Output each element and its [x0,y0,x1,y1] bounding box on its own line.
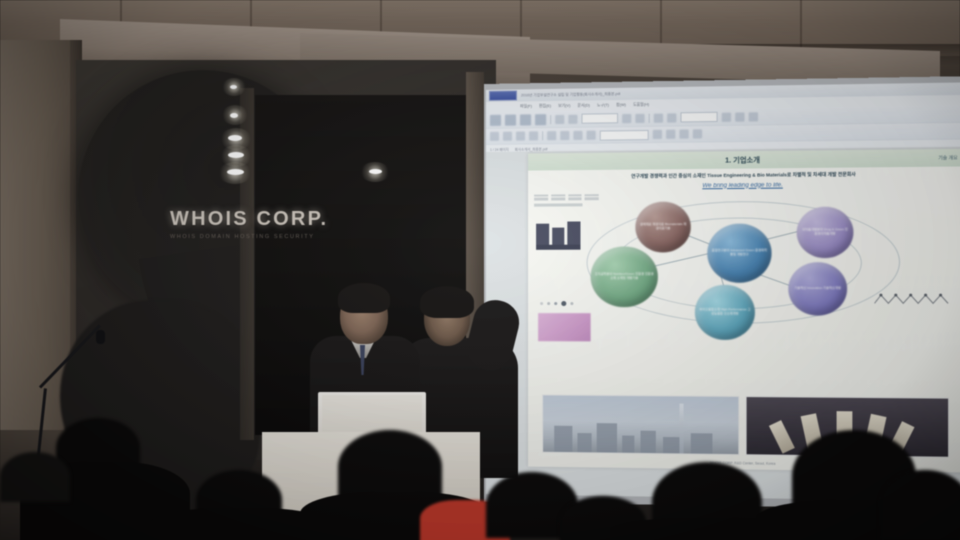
menu-item-document[interactable]: 문서(D) [577,103,589,108]
text-tool-icon[interactable] [560,131,569,140]
presenter-1-hair [338,283,390,313]
spotlight-2 [230,113,238,118]
sign-icon[interactable] [679,129,688,138]
app-icon [489,90,517,100]
wall-sign-title: WHOIS CORP. [170,208,328,231]
bubble-teal: 바이오융합소재 High Performance 고성능융합 신소재개발 [695,284,755,339]
bar-chart-thumbnail [536,218,580,244]
menu-item-view[interactable]: 보기(V) [558,103,570,108]
app-title: 2016년 기업부설연구소 설립 및 기업활동(회사소개서)_최종본.pdf [521,91,621,98]
menu-item-file[interactable]: 파일(F) [520,104,532,109]
zoom-in-icon[interactable] [635,113,644,122]
redo-icon[interactable] [568,114,577,123]
menu-item-help[interactable]: 도움말(H) [633,102,649,107]
spotlight-1 [230,85,237,89]
conference-room-photo: WHOIS CORP. WHOIS DOMAIN HOSTING SECURIT… [0,0,960,540]
note-icon[interactable] [587,131,596,140]
micrograph-thumbnail [538,313,591,341]
menu-item-edit[interactable]: 편집(E) [539,104,551,109]
zoom-out-icon[interactable] [622,113,631,122]
toolbar-separator [550,115,551,124]
bubble-network-diagram: 중점연구분야 Advanced Green 환경화학물질 개발연구 생체재료 재… [528,189,960,347]
spotlight-5 [227,169,244,175]
room-background: WHOIS CORP. WHOIS DOMAIN HOSTING SECURIT… [0,0,960,540]
wall-sign: WHOIS CORP. WHOIS DOMAIN HOSTING SECURIT… [170,208,328,240]
bar-chart-baseline [536,244,580,249]
mail-icon[interactable] [535,114,546,125]
bubble-center: 중점연구분야 Advanced Green 환경화학물질 개발연구 [707,223,771,282]
rotate-right-icon[interactable] [735,112,744,121]
attach-icon[interactable] [666,130,675,139]
slide-header-right-label: 기술 개요 [938,155,957,161]
spotlight-4 [228,152,244,158]
select-tool-icon[interactable] [749,112,758,121]
undo-icon[interactable] [555,114,564,123]
menu-item-tools[interactable]: 도구(T) [597,103,609,108]
open-icon[interactable] [490,114,501,125]
presenter-2-hair [420,286,474,318]
save-icon[interactable] [505,114,516,125]
rotate-left-icon[interactable] [722,112,731,121]
wall-sign-subtitle: WHOIS DOMAIN HOSTING SECURITY [170,234,328,240]
fit-width-icon[interactable] [667,113,676,122]
process-dots [540,301,573,306]
last-page-icon[interactable] [529,131,538,140]
stamp-icon[interactable] [653,130,662,139]
toolbar-separator-3 [542,131,543,140]
first-page-icon[interactable] [490,132,499,141]
search-input[interactable] [600,129,649,140]
print-icon[interactable] [520,114,531,125]
data-table-thumbnail [534,194,599,207]
audience-head-2 [0,452,70,502]
zoom-combo[interactable] [581,113,618,124]
photo-city-skyline [542,394,739,455]
presentation-slide: 1. 기업소개 기술 개요 연구개발 경쟁력과 인간 중심의 소재인 Tissu… [528,149,960,473]
toolbar-separator-2 [649,113,650,122]
search-icon[interactable] [693,129,702,138]
audience-head-9 [880,470,960,540]
bubble-purple: 의약품개발분야 Drug & Green 친환경의약품개발 [797,206,854,258]
highlight-icon[interactable] [573,131,582,140]
page-combo[interactable] [680,112,717,123]
next-page-icon[interactable] [516,131,525,140]
spotlight-3 [228,135,242,141]
bookmark-icon[interactable] [547,131,556,140]
microphone-head [96,330,105,344]
slide-title: 1. 기업소개 [725,155,760,166]
chemical-structure-diagram [872,288,955,311]
bubble-green: 조직공학분야 Nutrition/Green 친환경 친환경소재 소재및 개발기… [591,246,658,307]
podium-top [322,395,422,435]
menu-item-window[interactable]: 창(W) [616,102,626,107]
fit-page-icon[interactable] [654,113,663,122]
spotlight-6 [369,169,382,174]
bubble-brown: 생체재료 재생의료 Biomaterials 재생의료기술 [635,201,690,252]
prev-page-icon[interactable] [503,132,512,141]
bubble-violet: 기술혁신 Innovation 기술혁신개발 [788,262,847,315]
